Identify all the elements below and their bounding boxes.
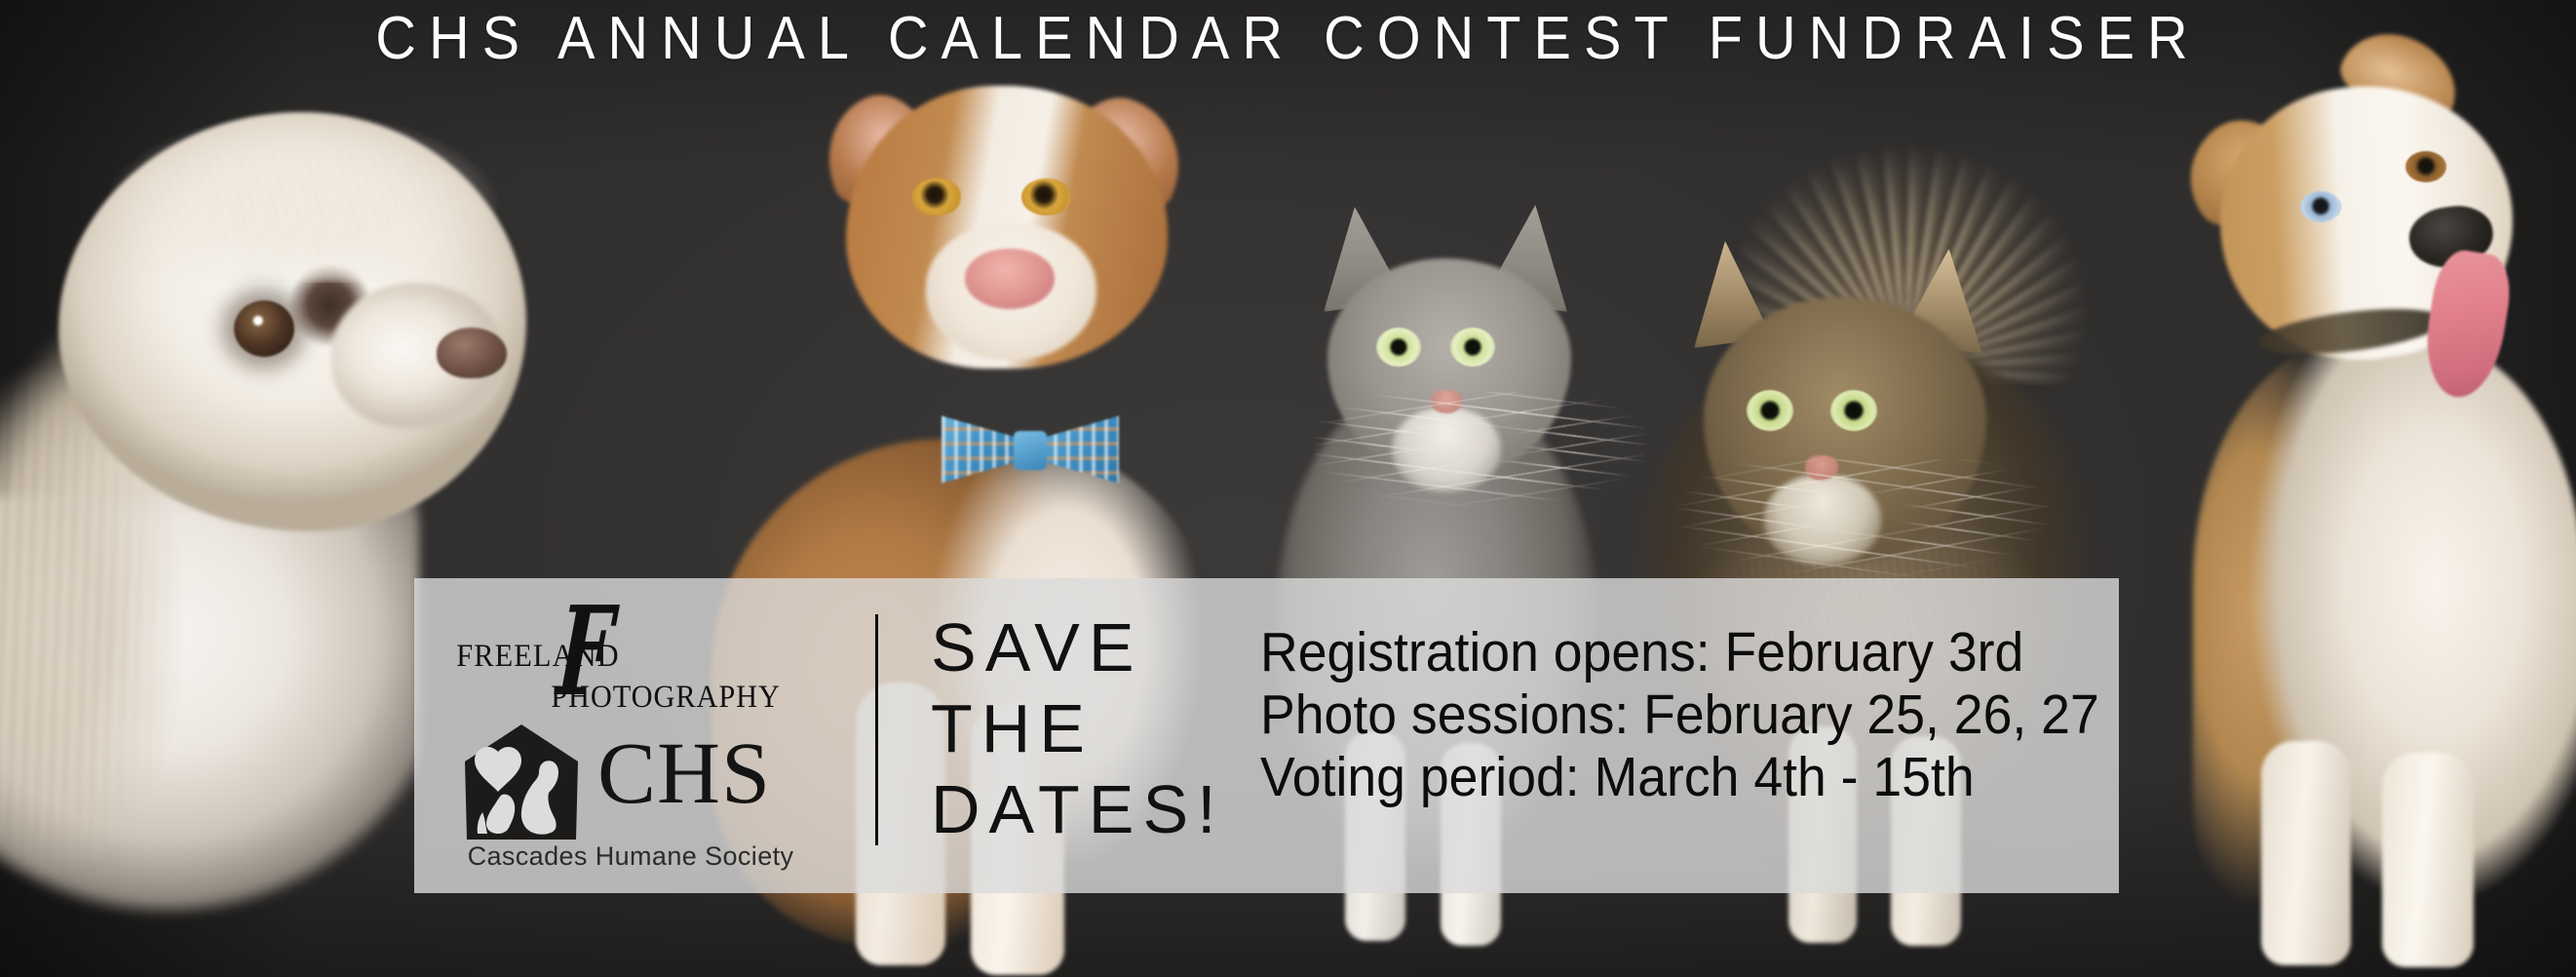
freeland-wordmark-bottom: PHOTOGRAPHY [551,680,781,716]
freeland-wordmark-top: FREELAND [456,639,619,675]
pitbull-one-nose [965,249,1055,309]
chs-subtitle: Cascades Humane Society [455,841,806,872]
vertical-divider [875,614,878,845]
save-line-2: THE [931,688,1223,769]
bowtie-left-wing [942,410,1019,489]
event-dates-list: Registration opens: February 3rd Photo s… [1223,578,2153,893]
longhair-cat-right-eye [1830,390,1877,431]
pitbull-one-left-eye [912,178,961,215]
page-title: CHS ANNUAL CALENDAR CONTEST FUNDRAISER [91,4,2486,74]
voting-period-line: Voting period: March 4th - 15th [1260,746,2099,808]
pitbull-two-brown-eye [2405,151,2446,182]
calendar-contest-banner: CHS ANNUAL CALENDAR CONTEST FUNDRAISER F… [0,0,2576,977]
save-the-dates-heading: SAVE THE DATES! [931,578,1223,893]
pitbull-two-blue-eye [2300,191,2341,222]
pitbull-two-right-leg [2382,753,2474,967]
chs-logo-lockup: CHS Cascades Humane Society [453,723,833,879]
chs-letters: CHS [597,730,771,818]
grey-cat-whiskers [1314,392,1645,538]
registration-opens-line: Registration opens: February 3rd [1260,621,2099,684]
save-the-dates-info-bar: F FREELAND PHOTOGRAPHY CHS Cascades Huma… [414,578,2119,893]
save-line-3: DATES! [931,769,1223,850]
house-with-cat-dog-heart-icon [461,723,582,841]
bowtie-knot [1014,431,1047,470]
save-line-1: SAVE [931,607,1223,688]
terrier-head-fur [97,88,507,283]
longhair-cat-left-eye [1747,390,1793,431]
plaid-bowtie [942,410,1119,489]
pitbull-two-left-leg [2261,741,2351,965]
grey-cat-left-eye [1376,328,1421,367]
pitbull-one-right-eye [1021,178,1070,215]
freeland-photography-logo: F FREELAND PHOTOGRAPHY [449,596,839,711]
terrier-eye [234,300,294,357]
terrier-nose [437,328,507,378]
photo-sessions-line: Photo sessions: February 25, 26, 27 [1260,684,2099,746]
brand-column: F FREELAND PHOTOGRAPHY CHS Cascades Huma… [414,578,855,893]
tan-white-pitbull-tongue-out-photo [2164,20,2576,956]
bowtie-right-wing [1041,410,1119,489]
grey-cat-right-eye [1450,328,1495,367]
